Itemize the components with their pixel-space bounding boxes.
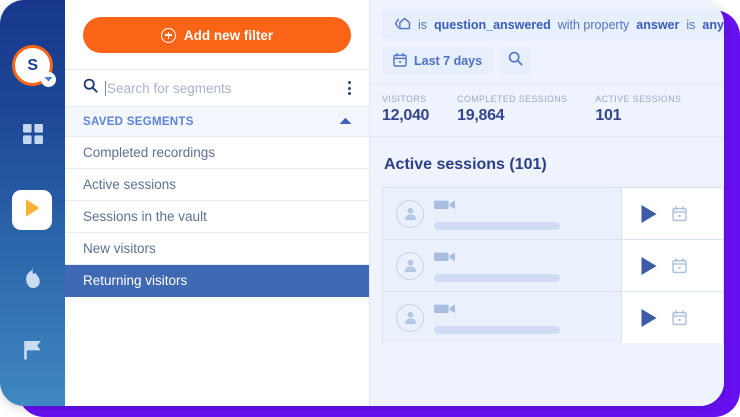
sidebar-item-recordings[interactable] [12,190,52,230]
user-avatar-icon [396,304,424,332]
sidebar-item-completed-recordings[interactable]: Completed recordings [65,137,369,169]
date-range-label: Last 7 days [414,54,482,68]
row-actions [621,240,723,291]
search-icon [83,78,98,98]
primary-nav-rail: S [0,0,65,406]
search-input[interactable]: Search for segments [105,81,337,96]
segments-empty-space [65,297,369,406]
filter-search-button[interactable] [500,47,531,75]
segment-label: New visitors [83,241,156,256]
stat-visitors: VISITORS 12,040 [382,94,429,125]
segment-label: Returning visitors [83,273,187,288]
stat-label: VISITORS [382,94,429,104]
segment-label: Active sessions [83,177,176,192]
flag-funnels-icon [22,339,44,366]
segment-label: Completed recordings [83,145,215,160]
session-skeleton [434,197,621,230]
calendar-icon[interactable] [672,310,687,326]
segments-panel: Add new filter Search for segments [65,0,370,406]
add-filter-section: Add new filter [65,0,369,70]
chevron-down-badge-icon[interactable] [41,72,56,87]
calendar-icon[interactable] [672,206,687,222]
secondary-filter-row: Last 7 days [382,47,712,75]
table-row[interactable] [382,291,724,343]
stat-active-sessions: ACTIVE SESSIONS 101 [595,94,681,125]
stat-value: 19,864 [457,107,567,125]
user-avatar-icon [396,252,424,280]
date-range-button[interactable]: Last 7 days [382,47,493,75]
filter-chip-row: is question_answered with property answe… [382,10,712,39]
user-avatar-icon [396,200,424,228]
chip-property-name: answer [636,18,679,32]
sidebar-item-funnels[interactable] [0,334,65,370]
page-title: Active sessions (101) [370,137,724,187]
stats-bar: VISITORS 12,040 COMPLETED SESSIONS 19,86… [370,83,724,137]
stat-value: 101 [595,107,681,125]
chip-mid: with property [558,18,630,32]
stat-value: 12,040 [382,107,429,125]
session-summary [383,292,621,343]
sidebar-item-sessions-in-the-vault[interactable]: Sessions in the vault [65,201,369,233]
text-caret [105,81,106,96]
chip-prefix: is [418,18,427,32]
stat-label: COMPLETED SESSIONS [457,94,567,104]
session-summary [383,188,621,239]
stat-label: ACTIVE SESSIONS [595,94,681,104]
sidebar-item-dashboard[interactable] [0,118,65,154]
filter-bar: is question_answered with property answe… [370,0,724,83]
add-filter-label: Add new filter [184,28,273,43]
video-camera-icon [434,197,621,215]
calendar-icon[interactable] [672,258,687,274]
chip-value: any [702,18,724,32]
sessions-list [370,187,724,406]
play-icon[interactable] [640,308,658,328]
saved-segments-header[interactable]: SAVED SEGMENTS [65,107,369,137]
table-row[interactable] [382,239,724,291]
flame-heatmaps-icon [23,266,42,294]
session-text-placeholder [434,222,560,230]
video-camera-icon [434,301,621,319]
chevron-up-icon[interactable] [339,116,352,128]
event-filter-chip[interactable]: is question_answered with property answe… [382,10,724,39]
plus-circle-icon [161,28,176,43]
row-actions [621,292,723,343]
sidebar-item-heatmaps[interactable] [0,262,65,298]
video-camera-icon [434,249,621,267]
row-actions [621,188,723,239]
grid-dashboard-icon [22,123,44,150]
play-icon[interactable] [640,256,658,276]
chip-is: is [686,18,695,32]
more-vertical-icon[interactable] [344,77,355,99]
sidebar-item-new-visitors[interactable]: New visitors [65,233,369,265]
stat-completed-sessions: COMPLETED SESSIONS 19,864 [457,94,567,125]
calendar-icon [393,53,407,70]
segment-label: Sessions in the vault [83,209,207,224]
session-skeleton [434,301,621,334]
screenshot-stage: S [0,0,740,417]
play-recordings-icon [21,197,43,224]
chip-event-name: question_answered [434,18,551,32]
rail-icon-list [0,118,65,404]
session-skeleton [434,249,621,282]
saved-segments-label: SAVED SEGMENTS [83,116,194,128]
event-pentagon-icon [394,16,411,34]
search-placeholder: Search for segments [107,81,232,96]
segment-search-row[interactable]: Search for segments [65,70,369,107]
sidebar-item-active-sessions[interactable]: Active sessions [65,169,369,201]
search-icon [508,51,523,71]
play-icon[interactable] [640,204,658,224]
session-text-placeholder [434,326,560,334]
app-logo[interactable]: S [12,45,53,86]
session-summary [383,240,621,291]
app-card: S [0,0,724,406]
add-new-filter-button[interactable]: Add new filter [83,17,351,53]
session-text-placeholder [434,274,560,282]
sidebar-item-returning-visitors[interactable]: Returning visitors [65,265,369,297]
table-row[interactable] [382,187,724,239]
main-content-pane: is question_answered with property answe… [370,0,724,406]
